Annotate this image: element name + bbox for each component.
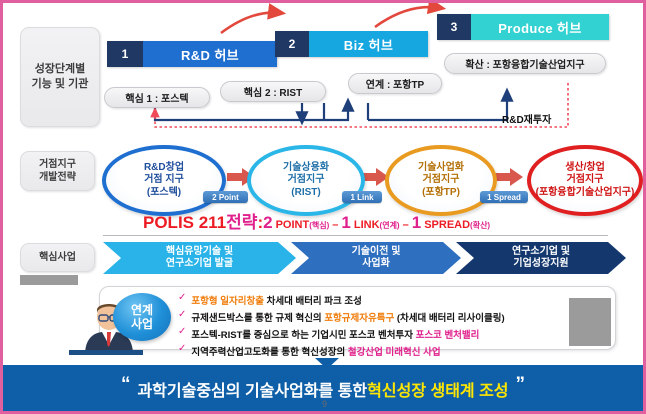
process-step-3[interactable]: 연구소기업 및 기업성장지원 <box>456 242 626 274</box>
step-tag-1spread: 1 Spread <box>480 191 528 203</box>
list-item: ✓ 포스텍-RIST를 중심으로 하는 기업시민 포스코 벤처투자 포스코 벤처… <box>178 327 505 341</box>
slide-root: 성장단계별 기능 및 기관 거점지구 개발전략 핵심사업 1 R&D 허브 2 … <box>0 0 646 414</box>
check-icon: ✓ <box>178 344 186 354</box>
bullet-highlight: 포항규제자유특구 <box>324 313 394 324</box>
polis-paren-3: (확산) <box>470 220 490 231</box>
list-item: ✓ 규제샌드박스를 통한 규제 혁신의 포항규제자유특구 (차세대 배터리 리사… <box>178 310 505 324</box>
check-icon: ✓ <box>178 327 186 337</box>
polis-word-2: LINK <box>354 219 380 231</box>
pill-pohangtp[interactable]: 연계 : 포항TP <box>348 73 442 94</box>
check-icon: ✓ <box>178 310 186 320</box>
linked-projects-bullets: ✓ 포항형 일자리창출 차세대 배터리 파크 조성 ✓ 규제샌드박스를 통한 규… <box>178 293 505 361</box>
polis-strategy-line: POLIS 211 전략 : 2 POINT (핵심) – 1 LINK (연계… <box>143 208 490 233</box>
quote-close-mark: ” <box>516 374 526 396</box>
hub-number-1: 1 <box>107 41 143 67</box>
process-step-1[interactable]: 핵심유망기술 및 연구소기업 발굴 <box>103 242 296 274</box>
hub-title-2: Biz 허브 <box>309 31 428 57</box>
process-step-2[interactable]: 기술이전 및 사업화 <box>291 242 461 274</box>
bullet-pre: 규제샌드박스를 통한 규제 혁신의 <box>191 313 324 324</box>
hub-bar-2[interactable]: 2 Biz 허브 <box>275 31 428 57</box>
bullet-post: (차세대 배터리 리사이클링) <box>394 313 504 324</box>
section-divider <box>103 235 608 236</box>
bullet-pre: 포스텍-RIST를 중심으로 하는 기업시민 포스코 벤처투자 <box>191 330 415 341</box>
step-tag-2point: 2 Point <box>203 191 248 203</box>
decor-tab-right <box>569 298 611 346</box>
banner-text-highlight: 혁신성장 생태계 조성 <box>367 377 508 401</box>
bullet-pre: 지역주력산업고도화를 통한 혁신성장의 <box>191 347 348 358</box>
polis-paren-2: (연계) <box>380 220 400 231</box>
list-item: ✓ 포항형 일자리창출 차세대 배터리 파크 조성 <box>178 293 505 307</box>
reinvest-label: R&D재투자 <box>502 111 551 126</box>
decor-tab-left <box>20 275 78 285</box>
polis-num-3: 1 <box>412 213 421 233</box>
polis-num-1: 2 <box>263 213 272 233</box>
step-tag-1link: 1 Link <box>342 191 382 203</box>
pill-spread[interactable]: 확산 : 포항융합기술산업지구 <box>444 53 606 74</box>
hub-bar-1[interactable]: 1 R&D 허브 <box>107 41 277 67</box>
polis-word-1: POINT <box>276 219 310 231</box>
district-production-startup[interactable]: 생산/창업 거점지구 (포항융합기술산업지구) <box>527 145 643 216</box>
district-commercialization[interactable]: 기술상용화 거점지구 (RIST) <box>247 145 365 216</box>
linked-projects-circle[interactable]: 연계 사업 <box>113 293 171 341</box>
category-label-growth-stage: 성장단계별 기능 및 기관 <box>20 27 100 127</box>
pill-postech[interactable]: 핵심 1 : 포스텍 <box>104 87 210 108</box>
quote-open-mark: “ <box>121 374 131 396</box>
district-industrialization[interactable]: 기술사업화 거점지구 (포항TP) <box>385 145 497 216</box>
hub-title-3: Produce 허브 <box>471 14 609 40</box>
pill-rist[interactable]: 핵심 2 : RIST <box>220 81 326 102</box>
polis-brand-suffix: 전략 <box>226 208 257 233</box>
bullet-post: 차세대 배터리 파크 조성 <box>264 296 362 307</box>
hub-title-1: R&D 허브 <box>143 41 277 67</box>
polis-word-3: SPREAD <box>424 219 470 231</box>
polis-dash-2: – <box>403 219 409 231</box>
bullet-highlight: 포항형 일자리창출 <box>191 296 264 307</box>
check-icon: ✓ <box>178 293 186 303</box>
category-label-core-projects: 핵심사업 <box>20 243 95 272</box>
hub-number-2: 2 <box>275 31 309 57</box>
polis-dash-1: – <box>332 219 338 231</box>
list-item: ✓ 지역주력산업고도화를 통한 혁신성장의 철강산업 미래혁신 사업 <box>178 344 505 358</box>
page-number: 9 <box>322 399 327 409</box>
hub-number-3: 3 <box>437 14 471 40</box>
hub-bar-3[interactable]: 3 Produce 허브 <box>437 14 609 40</box>
polis-num-2: 1 <box>341 213 350 233</box>
polis-brand: POLIS 211 <box>143 213 226 233</box>
district-rnd-startup[interactable]: R&D창업 거점 지구 (포스텍) <box>102 145 226 216</box>
bullet-highlight-2: 철강산업 미래혁신 사업 <box>348 347 441 358</box>
banner-text-plain: 과학기술중심의 기술사업화를 통한 <box>137 377 367 401</box>
category-label-district-strategy: 거점지구 개발전략 <box>20 151 95 191</box>
polis-paren-1: (핵심) <box>309 220 329 231</box>
bullet-highlight-2: 포스코 벤처밸리 <box>416 330 480 341</box>
